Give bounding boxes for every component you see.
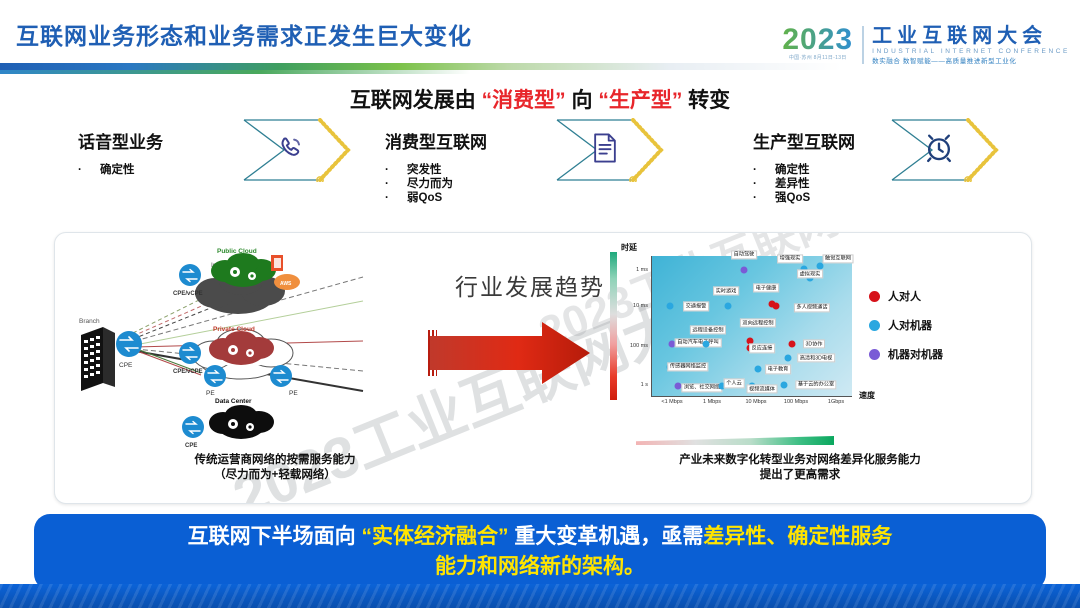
chart-xtick-1: 1 Mbps <box>703 399 721 405</box>
legend-item-h2m: 人对机器 <box>869 317 943 333</box>
clock-icon <box>924 132 954 164</box>
chart-xlabel: 速度 <box>859 390 875 401</box>
legend-item-h2h: 人对人 <box>869 288 943 304</box>
legend-swatch-h2h <box>869 291 880 302</box>
stage-production-bullet-1: 差异性 <box>775 178 810 190</box>
stage-consumer-bullet-0: 突发性 <box>407 164 442 176</box>
slide-header: 互联网业务形态和业务需求正发生巨大变化 2023 中国·苏州 8月11日-13日… <box>0 0 1080 74</box>
public-cloud-icon <box>211 253 276 287</box>
slide: 互联网业务形态和业务需求正发生巨大变化 2023 中国·苏州 8月11日-13日… <box>0 0 1080 608</box>
left-caption-line1: 传统运营商网络的按需服务能力 <box>145 453 405 468</box>
chart-point <box>773 303 780 310</box>
subtitle-highlight-consumer: “消费型” <box>482 89 566 112</box>
chart-point <box>667 303 674 310</box>
logo-tagline: 数实融合 数智赋能——高质量推进新型工业化 <box>872 57 1070 66</box>
chart-point <box>781 381 788 388</box>
stage-voice-bullet-0: 确定性 <box>100 164 135 176</box>
slide-footer <box>0 584 1080 608</box>
chart-point-label: 触觉互联网 <box>823 254 854 263</box>
svg-text:AWS: AWS <box>280 281 292 287</box>
chart-point <box>703 341 710 348</box>
chart-ylabel: 时延 <box>621 242 637 253</box>
phone-icon <box>276 134 306 164</box>
right-caption: 产业未来数字化转型业务对网络差异化服务能力 提出了更高需求 <box>600 453 1000 483</box>
chart-point-label: 传感器网络监控 <box>667 362 708 371</box>
chart-point-label: 3D协作 <box>803 340 825 349</box>
stage-production-title: 生产型互联网 <box>753 128 855 153</box>
router-icon-cpe <box>116 331 142 357</box>
legend-label-h2m: 人对机器 <box>888 317 932 333</box>
trend-label: 行业发展趋势 <box>455 268 605 302</box>
chart-ytick-1: 10 ms <box>633 303 648 309</box>
svg-text:CPE: CPE <box>185 443 197 449</box>
stage-consumer-bullets: ·突发性 ·尽力而为 ·弱QoS <box>385 163 487 205</box>
chart-point-label: 双向远程控制 <box>740 319 776 328</box>
left-caption-line2: （尽力而为+轻载网络） <box>145 468 405 483</box>
chart-point-label: 自动驾驶 <box>731 250 757 259</box>
svg-text:Private Cloud: Private Cloud <box>213 326 255 333</box>
chart-point <box>789 341 796 348</box>
logo-name-cn: 工业互联网大会 <box>872 26 1070 47</box>
legend-label-m2m: 机器对机器 <box>888 346 943 362</box>
router-icon-cpe-vcpe-2 <box>179 342 201 364</box>
banner-l1c: 重大变革机遇，亟需 <box>509 525 704 548</box>
data-center-icon <box>209 405 274 439</box>
chart-point-label: 高清和3D电视 <box>797 354 835 363</box>
private-cloud-icon <box>209 331 274 365</box>
chart-point <box>725 303 732 310</box>
transition-arrow-icon <box>430 322 590 384</box>
stage-row: 话音型业务 ·确定性 消费型互联网 <box>0 128 1080 228</box>
stage-production-bullet-0: 确定性 <box>775 164 810 176</box>
chart-point-label: 多人视频通话 <box>794 303 830 312</box>
conclusion-banner: 互联网下半场面向 “实体经济融合” 重大变革机遇，亟需差异性、确定性服务 能力和… <box>34 514 1046 590</box>
header-rule-accent <box>0 70 470 74</box>
document-icon <box>591 132 619 164</box>
subtitle-part2: 向 <box>566 89 599 112</box>
chart-point-label: 增强现实 <box>777 254 803 263</box>
stage-voice-bullets: ·确定性 <box>78 163 163 177</box>
svg-text:Branch: Branch <box>79 318 100 325</box>
legend-item-m2m: 机器对机器 <box>869 346 943 362</box>
svg-text:Data Center: Data Center <box>215 398 252 405</box>
stage-consumer: 消费型互联网 ·突发性 ·尽力而为 ·弱QoS <box>385 128 487 205</box>
chart-xtick-2: 10 Mbps <box>745 399 766 405</box>
conference-logo: 2023 中国·苏州 8月11日-13日 工业互联网大会 INDUSTRIAL … <box>782 26 1070 68</box>
service-requirements-chart: 时延 速度 1 ms 10 ms 100 ms 1 s <1 Mbps 1 Mb… <box>625 250 857 422</box>
legend-label-h2h: 人对人 <box>888 288 921 304</box>
chart-plot-area: 1 ms 10 ms 100 ms 1 s <1 Mbps 1 Mbps 10 … <box>651 256 852 397</box>
chart-xtick-4: 1Gbps <box>828 399 844 405</box>
stage-consumer-bullet-1: 尽力而为 <box>407 178 453 190</box>
stage-arrow-3 <box>880 118 995 180</box>
logo-year: 2023 <box>782 26 853 54</box>
logo-year-block: 2023 中国·苏州 8月11日-13日 <box>782 26 862 62</box>
svg-text:CPE: CPE <box>119 362 133 369</box>
svg-text:CPE/vCPE: CPE/vCPE <box>173 369 203 375</box>
chart-ytick-0: 1 ms <box>636 267 648 273</box>
chart-point-label: 视频流媒体 <box>747 384 778 393</box>
chart-point-label: 交通报警 <box>683 302 709 311</box>
chart-xtick-0: <1 Mbps <box>661 399 682 405</box>
legend-swatch-m2m <box>869 349 880 360</box>
chart-point-label: 虚拟现实 <box>797 270 823 279</box>
subtitle-part1: 互联网发展由 <box>350 89 482 112</box>
chart-point <box>741 267 748 274</box>
chart-point-label: 基于云的办公室 <box>795 380 836 389</box>
subtitle-highlight-production: “生产型” <box>598 89 682 112</box>
stage-arrow-2 <box>545 118 660 180</box>
stage-voice-title: 话音型业务 <box>78 128 163 153</box>
chart-point-label: 个人云 <box>724 379 745 388</box>
chart-point-label: 自动汽车电子呼叫 <box>675 338 722 347</box>
stage-production: 生产型互联网 ·确定性 ·差异性 ·强QoS <box>753 128 855 205</box>
logo-text-block: 工业互联网大会 INDUSTRIAL INTERNET CONFERENCE 数… <box>872 26 1070 66</box>
svg-text:CPE/vCPE: CPE/vCPE <box>173 291 203 297</box>
chart-point-label: 反应连接 <box>749 344 775 353</box>
page-title: 互联网业务形态和业务需求正发生巨大变化 <box>16 17 472 51</box>
stage-consumer-bullet-2: 弱QoS <box>407 192 442 204</box>
chart-point-label: 实时游戏 <box>713 286 739 295</box>
branch-building-icon <box>81 327 115 391</box>
legend-swatch-h2m <box>869 320 880 331</box>
router-icon-cpe-3 <box>182 416 204 438</box>
chart-point-label: 电子健康 <box>753 284 779 293</box>
chart-point <box>785 355 792 362</box>
banner-l1b: “实体经济融合” <box>362 525 509 548</box>
chart-point-label: 电子教育 <box>765 365 791 374</box>
router-icon-cpe-vcpe-1 <box>179 264 201 286</box>
left-caption: 传统运营商网络的按需服务能力 （尽力而为+轻载网络） <box>145 453 405 483</box>
stage-production-bullet-2: 强QoS <box>775 192 810 204</box>
section-subtitle: 互联网发展由 “消费型” 向 “生产型” 转变 <box>0 84 1080 114</box>
right-caption-line1: 产业未来数字化转型业务对网络差异化服务能力 <box>600 453 1000 468</box>
banner-l1a: 互联网下半场面向 <box>188 525 362 548</box>
latency-gradient-bar <box>610 252 617 400</box>
stage-voice: 话音型业务 ·确定性 <box>78 128 163 177</box>
chart-xtick-3: 100 Mbps <box>784 399 808 405</box>
chart-point-label: 浏览、社交网络 <box>681 383 722 392</box>
subtitle-part3: 转变 <box>682 89 730 112</box>
right-caption-line2: 提出了更高需求 <box>600 468 1000 483</box>
chart-point <box>755 366 762 373</box>
cloud-services-column: Public Cloud AWS CPE/vCPE Private Cloud <box>155 239 355 454</box>
stage-arrow-1 <box>232 118 347 180</box>
conclusion-text: 互联网下半场面向 “实体经济融合” 重大变革机遇，亟需差异性、确定性服务 能力和… <box>172 522 909 582</box>
chart-legend: 人对人 人对机器 机器对机器 <box>869 288 943 375</box>
chart-point-label: 远程设备控制 <box>690 326 726 335</box>
banner-l1d: 差异性、确定性服务 <box>703 525 892 548</box>
logo-date: 中国·苏州 8月11日-13日 <box>782 54 853 62</box>
stage-production-bullets: ·确定性 ·差异性 ·强QoS <box>753 163 855 205</box>
stage-consumer-title: 消费型互联网 <box>385 128 487 153</box>
chart-ytick-3: 1 s <box>641 382 648 388</box>
banner-l2: 能力和网络新的架构。 <box>435 555 645 578</box>
logo-name-en: INDUSTRIAL INTERNET CONFERENCE <box>872 47 1070 57</box>
logo-divider <box>862 26 864 64</box>
chart-ytick-2: 100 ms <box>630 343 648 349</box>
